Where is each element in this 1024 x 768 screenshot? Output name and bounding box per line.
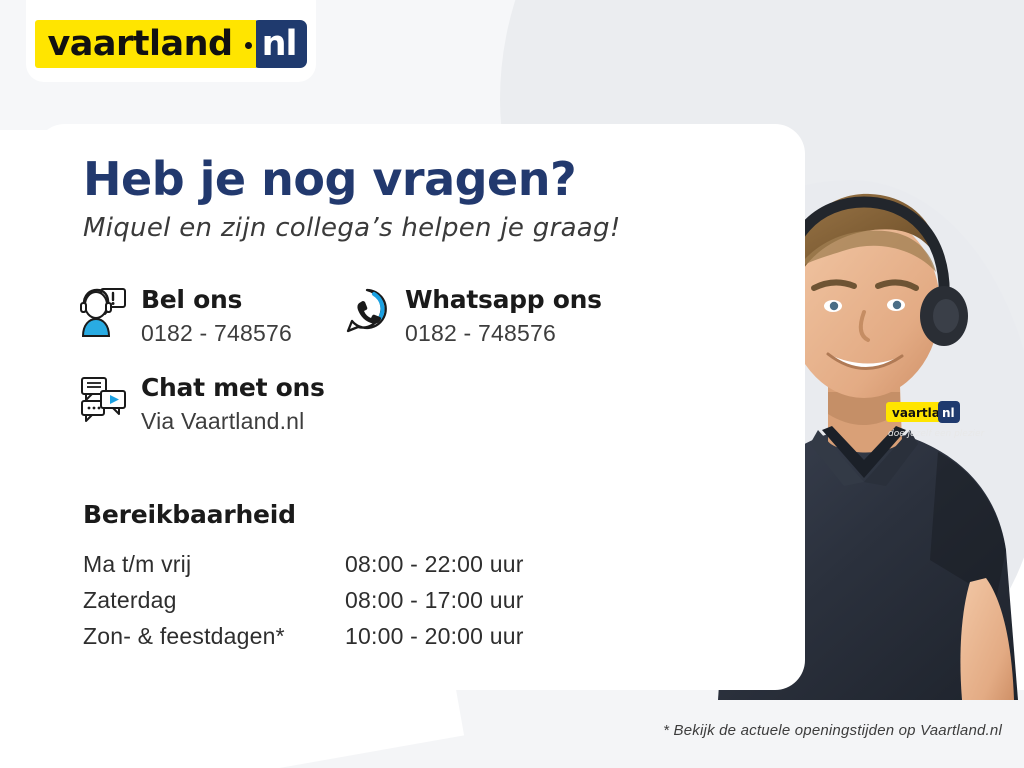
- table-row: Ma t/m vrij 08:00 - 22:00 uur: [83, 546, 575, 582]
- contact-block-call[interactable]: Bel ons 0182 - 748576: [79, 284, 292, 348]
- contact-banner: vaartland nl doe jezelf een plezier Miqu…: [0, 0, 1024, 768]
- availability-day: Ma t/m vrij: [83, 546, 345, 582]
- vaartland-logo: vaartland nl: [35, 20, 306, 68]
- page-title: Heb je nog vragen?: [83, 152, 576, 206]
- contact-value-chat: Via Vaartland.nl: [141, 406, 325, 436]
- headset-person-icon: [79, 286, 127, 338]
- contact-title-whatsapp: Whatsapp ons: [405, 285, 602, 315]
- contact-block-chat[interactable]: Chat met ons Via Vaartland.nl: [79, 372, 325, 436]
- availability-time: 08:00 - 22:00 uur: [345, 546, 575, 582]
- availability-day: Zon- & feestdagen*: [83, 618, 345, 654]
- availability-time: 10:00 - 20:00 uur: [345, 618, 575, 654]
- logo-tld: nl: [252, 20, 307, 68]
- content-card: Heb je nog vragen? Miquel en zijn colleg…: [35, 124, 805, 690]
- availability-title: Bereikbaarheid: [83, 500, 296, 529]
- availability-time: 08:00 - 17:00 uur: [345, 582, 575, 618]
- whatsapp-icon: [343, 286, 391, 338]
- logo-wordmark: vaartland: [35, 20, 242, 68]
- polo-tagline: doe jezelf een plezier: [888, 429, 986, 439]
- availability-table: Ma t/m vrij 08:00 - 22:00 uur Zaterdag 0…: [83, 546, 575, 654]
- table-row: Zon- & feestdagen* 10:00 - 20:00 uur: [83, 618, 575, 654]
- page-subtitle: Miquel en zijn collega’s helpen je graag…: [83, 212, 621, 244]
- table-row: Zaterdag 08:00 - 17:00 uur: [83, 582, 575, 618]
- contact-value-whatsapp: 0182 - 748576: [405, 318, 602, 348]
- svg-text:nl: nl: [942, 406, 955, 420]
- footnote-text: * Bekijk de actuele openingstijden op Va…: [663, 722, 1002, 739]
- contact-block-whatsapp[interactable]: Whatsapp ons 0182 - 748576: [343, 284, 602, 348]
- contact-value-call: 0182 - 748576: [141, 318, 292, 348]
- logo-dot-icon: [243, 20, 256, 68]
- brand-logo-badge[interactable]: vaartland nl: [26, 0, 316, 82]
- contact-title-chat: Chat met ons: [141, 373, 325, 403]
- chat-bubbles-icon: [79, 374, 127, 426]
- availability-day: Zaterdag: [83, 582, 345, 618]
- contact-title-call: Bel ons: [141, 285, 292, 315]
